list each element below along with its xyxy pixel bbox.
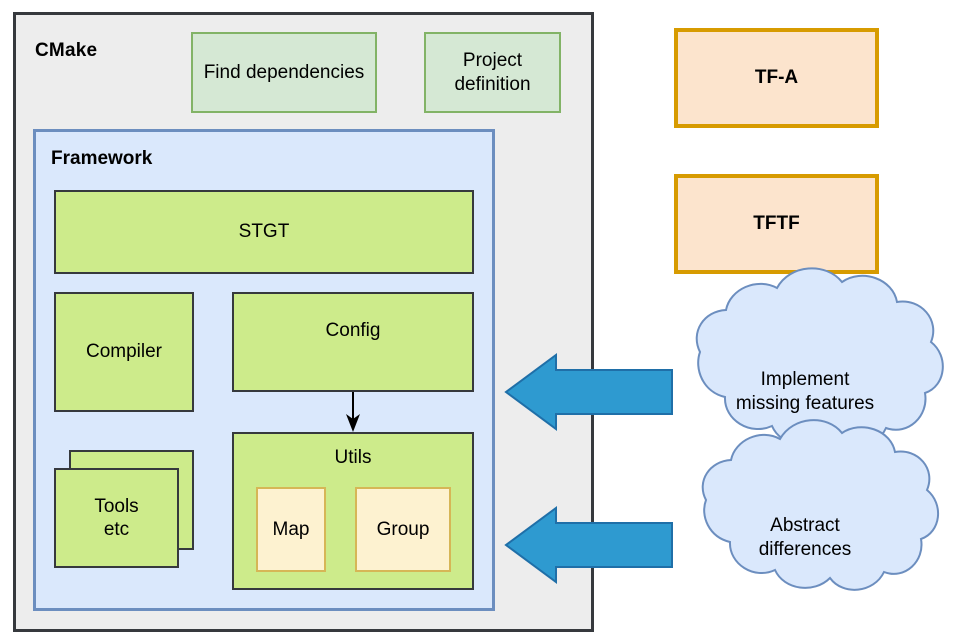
cloud-implement-missing-features <box>697 268 943 446</box>
group-label: Group <box>377 519 430 541</box>
tools-label: Tools etc <box>94 495 138 541</box>
compiler-label: Compiler <box>86 340 162 363</box>
find-dependencies-box: Find dependencies <box>191 32 377 113</box>
cloud-1-text: Implement missing features <box>690 368 920 416</box>
find-dependencies-label: Find dependencies <box>204 61 365 84</box>
tftf-label: TFTF <box>753 213 799 235</box>
tools-stack: Tools etc <box>54 450 194 568</box>
cloud-2-line1: Abstract <box>770 515 840 536</box>
group-box: Group <box>355 487 451 572</box>
cloud-2-text: Abstract differences <box>700 514 910 562</box>
cmake-label: CMake <box>35 40 97 62</box>
project-definition-label: Project definition <box>426 49 559 95</box>
config-label: Config <box>326 319 381 342</box>
compiler-box: Compiler <box>54 292 194 412</box>
cloud-abstract-differences <box>703 420 938 590</box>
tfa-label: TF-A <box>755 67 798 89</box>
tools-box: Tools etc <box>54 468 179 568</box>
config-box: Config <box>232 292 474 392</box>
tools-label-line1: Tools <box>94 496 138 517</box>
project-definition-box: Project definition <box>424 32 561 113</box>
map-label: Map <box>273 519 310 541</box>
stgt-box: STGT <box>54 190 474 274</box>
diagram-canvas: CMake Find dependencies Project definiti… <box>0 0 964 644</box>
tftf-box: TFTF <box>674 174 879 274</box>
cloud-1-line1: Implement <box>761 369 850 390</box>
cloud-1-line2: missing features <box>736 393 874 414</box>
stgt-label: STGT <box>239 220 290 243</box>
map-box: Map <box>256 487 326 572</box>
cloud-2-line2: differences <box>759 539 852 560</box>
tfa-box: TF-A <box>674 28 879 128</box>
utils-label: Utils <box>335 446 372 469</box>
tools-label-line2: etc <box>104 519 129 540</box>
framework-label: Framework <box>51 148 152 170</box>
